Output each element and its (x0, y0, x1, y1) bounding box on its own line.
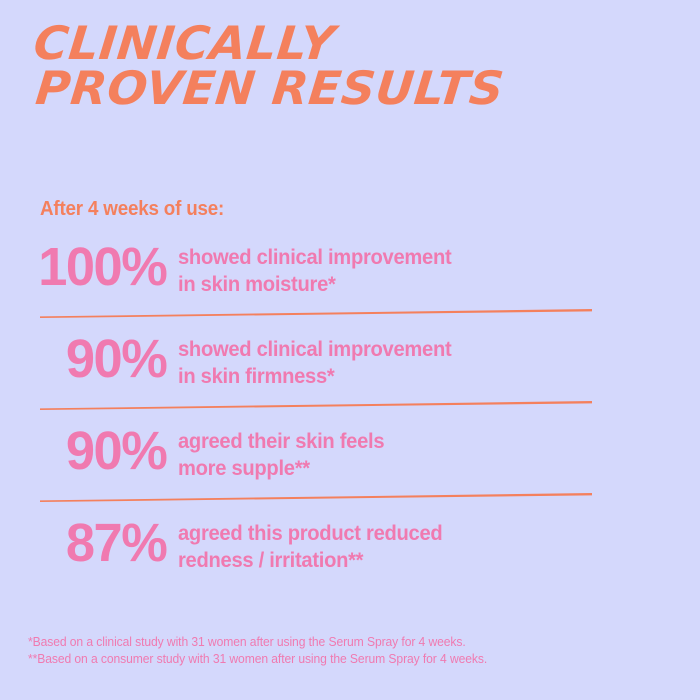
stat-value: 87% (5, 512, 178, 574)
footnote-clinical-study: *Based on a clinical study with 31 women… (28, 634, 659, 651)
stat-description-line-2: in skin moisture* (178, 271, 679, 298)
stat-description-line-1: showed clinical improvement (178, 244, 679, 271)
divider (0, 490, 700, 512)
stat-description-line-1: agreed this product reduced (178, 520, 679, 547)
stat-description: agreed this product reduced redness / ir… (178, 512, 679, 574)
stat-value: 100% (5, 236, 178, 298)
footnotes: *Based on a clinical study with 31 women… (28, 634, 678, 668)
stat-row: 90% showed clinical improvement in skin … (0, 328, 700, 398)
footnote-consumer-study: **Based on a consumer study with 31 wome… (28, 651, 659, 668)
page-title-line-1: CLINICALLY (32, 22, 669, 65)
stat-row: 100% showed clinical improvement in skin… (0, 236, 700, 306)
stat-description: showed clinical improvement in skin mois… (178, 236, 679, 298)
stat-description-line-2: more supple** (178, 455, 679, 482)
stat-value: 90% (5, 420, 178, 482)
stat-value: 90% (5, 328, 178, 390)
subheading: After 4 weeks of use: (40, 198, 224, 221)
stat-row: 87% agreed this product reduced redness … (0, 512, 700, 582)
stat-description: agreed their skin feels more supple** (178, 420, 679, 482)
page-title-line-2: PROVEN RESULTS (34, 67, 669, 110)
stat-description-line-1: showed clinical improvement (178, 336, 679, 363)
page-title: CLINICALLY PROVEN RESULTS (34, 22, 654, 110)
stat-description-line-2: redness / irritation** (178, 547, 679, 574)
promotional-results-poster: CLINICALLY PROVEN RESULTS After 4 weeks … (0, 0, 700, 700)
stat-description-line-2: in skin firmness* (178, 363, 679, 390)
divider (0, 398, 700, 420)
stat-row: 90% agreed their skin feels more supple*… (0, 420, 700, 490)
stat-description-line-1: agreed their skin feels (178, 428, 679, 455)
stats-list: 100% showed clinical improvement in skin… (0, 236, 700, 582)
divider (0, 306, 700, 328)
stat-description: showed clinical improvement in skin firm… (178, 328, 679, 390)
